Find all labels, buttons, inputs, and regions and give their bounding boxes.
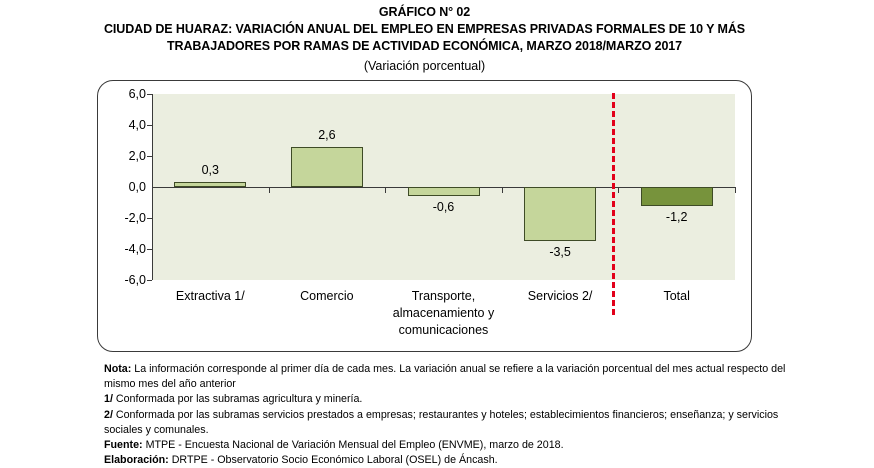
note-general-label: Nota: — [104, 363, 131, 375]
y-axis-tick-mark — [147, 280, 152, 281]
bar-4[interactable] — [524, 187, 596, 241]
elaboration-label: Elaboración: — [104, 454, 169, 466]
note-general: Nota: La información corresponde al prim… — [104, 362, 804, 392]
bar-5[interactable] — [641, 187, 713, 206]
bar-value-label-4: -3,5 — [515, 246, 605, 259]
footnote-2: 2/ Conformada por las subramas servicios… — [104, 408, 804, 438]
x-axis-tick-mark — [269, 187, 270, 193]
chart-title-line-2: CIUDAD DE HUARAZ: VARIACIÓN ANUAL DEL EM… — [97, 21, 752, 38]
bar-1[interactable] — [174, 182, 246, 187]
x-axis-tick-mark — [735, 187, 736, 193]
elaboration-line: Elaboración: DRTPE - Observatorio Socio … — [104, 453, 804, 468]
y-axis-tick-labels: 6,04,02,00,0-2,0-4,0-6,0 — [100, 94, 146, 280]
x-axis-category-label-5: Total — [618, 288, 735, 305]
y-axis-tick-label: 0,0 — [102, 181, 146, 193]
bar-3[interactable] — [408, 187, 480, 196]
y-axis-tick-label: -4,0 — [102, 243, 146, 255]
x-axis-category-label-4: Servicios 2/ — [502, 288, 619, 305]
y-axis-tick-label: 4,0 — [102, 119, 146, 131]
elaboration-text: DRTPE - Observatorio Socio Económico Lab… — [169, 454, 498, 466]
x-axis-tick-mark — [618, 187, 619, 193]
footnote-2-text: Conformada por las subramas servicios pr… — [104, 409, 778, 436]
footnotes: Nota: La información corresponde al prim… — [104, 362, 804, 468]
page-title: GRÁFICO N° 02 — [97, 4, 752, 21]
chart-title-block: GRÁFICO N° 02 CIUDAD DE HUARAZ: VARIACIÓ… — [97, 4, 752, 75]
x-axis-category-label-3: Transporte, almacenamiento y comunicacio… — [385, 288, 502, 339]
x-axis-category-label-2: Comercio — [269, 288, 386, 305]
y-axis-tick-label: 6,0 — [102, 88, 146, 100]
source-line: Fuente: MTPE - Encuesta Nacional de Vari… — [104, 438, 804, 453]
chart-subtitle: (Variación porcentual) — [97, 57, 752, 75]
x-axis-category-label-1: Extractiva 1/ — [152, 288, 269, 305]
y-axis-tick-label: 2,0 — [102, 150, 146, 162]
x-axis-tick-mark — [385, 187, 386, 193]
bar-value-label-3: -0,6 — [399, 201, 489, 214]
bar-value-label-2: 2,6 — [282, 129, 372, 142]
bar-2[interactable] — [291, 147, 363, 187]
footnote-1: 1/ Conformada por las subramas agricultu… — [104, 392, 804, 407]
source-label: Fuente: — [104, 439, 143, 451]
chart-title-line-3: TRABAJADORES POR RAMAS DE ACTIVIDAD ECON… — [97, 38, 752, 55]
footnote-1-label: 1/ — [104, 393, 113, 405]
y-axis-tick-label: -2,0 — [102, 212, 146, 224]
source-text: MTPE - Encuesta Nacional de Variación Me… — [143, 439, 564, 451]
bar-value-label-5: -1,2 — [632, 211, 722, 224]
total-separator-line — [612, 93, 615, 315]
x-axis-tick-mark — [502, 187, 503, 193]
footnote-1-text: Conformada por las subramas agricultura … — [113, 393, 362, 405]
bar-value-label-1: 0,3 — [165, 164, 255, 177]
y-axis-tick-label: -6,0 — [102, 274, 146, 286]
footnote-2-label: 2/ — [104, 409, 113, 421]
note-general-text: La información corresponde al primer día… — [104, 363, 785, 390]
